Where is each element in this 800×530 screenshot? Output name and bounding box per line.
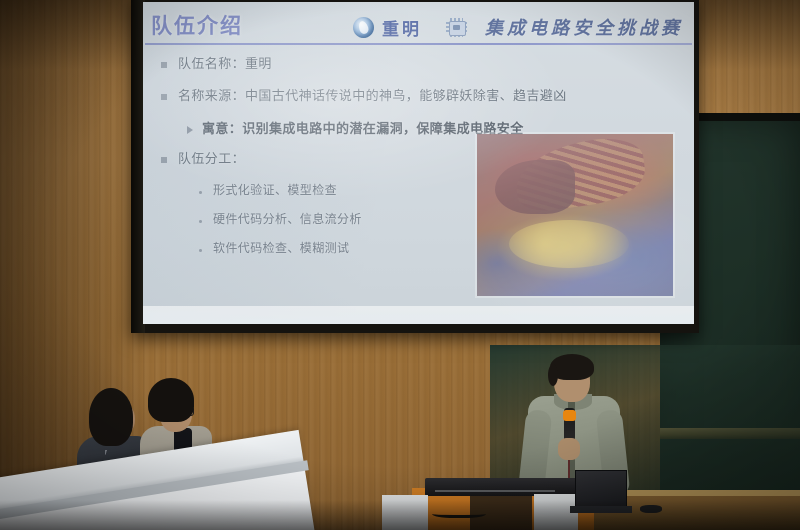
cable <box>432 508 486 518</box>
list-item: 名称来源：中国古代神话传说中的神鸟，能够辟妖除害、趋吉避凶 <box>161 88 681 104</box>
bullet-text: 软件代码检查、模糊测试 <box>213 241 349 256</box>
equipment-box-left <box>382 495 428 530</box>
bullet-text: 硬件代码分析、信息流分析 <box>213 212 362 227</box>
microphone-head-icon <box>563 410 576 421</box>
dot-bullet-icon <box>199 191 202 194</box>
bullet-text: 队伍名称：重明 <box>178 56 272 72</box>
yin-yang-circle-icon <box>353 17 374 38</box>
laptop-screen <box>575 470 627 510</box>
contest-name: 集成电路安全挑战赛 <box>485 14 683 40</box>
square-bullet-icon <box>161 157 167 163</box>
list-item: 队伍名称：重明 <box>161 56 681 72</box>
bullet-text: 队伍分工： <box>178 151 245 167</box>
microchip-icon <box>446 18 467 37</box>
screen-bottom-edge <box>143 306 694 324</box>
bullet-text: 名称来源：中国古代神话传说中的神鸟，能够辟妖除害、趋吉避凶 <box>178 88 567 104</box>
square-bullet-icon <box>161 94 167 100</box>
mouse <box>640 505 662 513</box>
bullet-text: 寓意：识别集成电路中的潜在漏洞，保障集成电路安全 <box>202 121 524 137</box>
dot-bullet-icon <box>199 220 202 223</box>
brand-name: 重明 <box>382 15 422 40</box>
lecture-hall-photo: 队伍介绍 重明 集成电路安全挑战赛 队伍名称：重明 名称来源：中国古代神话传说中… <box>0 0 800 530</box>
arrow-bullet-icon <box>187 126 193 134</box>
presentation-slide: 队伍介绍 重明 集成电路安全挑战赛 队伍名称：重明 名称来源：中国古代神话传说中… <box>143 2 694 324</box>
slide-title: 队伍介绍 <box>151 10 243 40</box>
slide-brand-header: 重明 集成电路安全挑战赛 <box>353 14 683 40</box>
title-divider <box>145 43 692 45</box>
square-bullet-icon <box>161 62 167 68</box>
laptop-base <box>570 506 632 513</box>
bullet-text: 形式化验证、模型检查 <box>213 183 337 198</box>
phoenix-painting-image <box>477 134 673 296</box>
dot-bullet-icon <box>199 249 202 252</box>
